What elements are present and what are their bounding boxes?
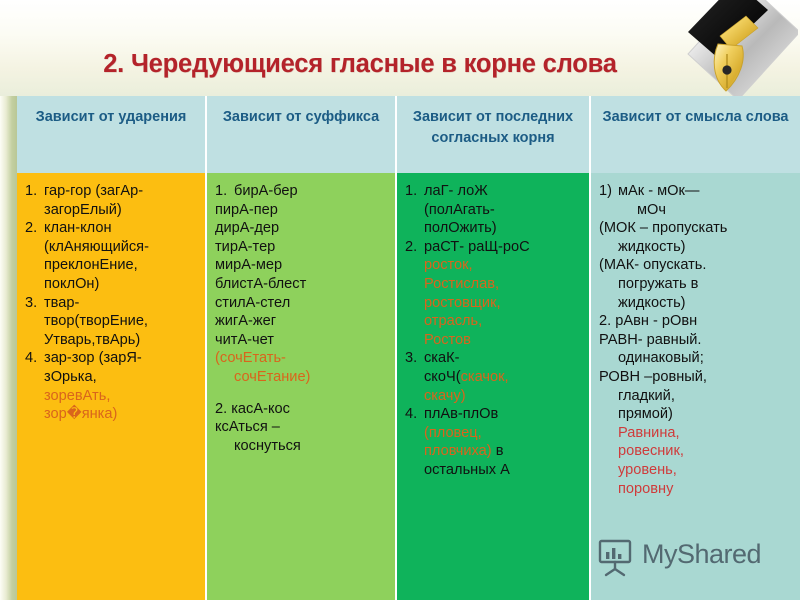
list-item-text: мАк - мОк—мОч [618, 182, 794, 219]
text-line: поровну [599, 480, 794, 499]
list-item-number: 1) [599, 182, 618, 219]
list-item-number: 1. [405, 182, 424, 238]
column-header-suffix: Зависит от суффикса [207, 96, 397, 173]
text-line: скачу) [424, 387, 583, 406]
text-line: 2. рАвн - рОвн [599, 312, 794, 331]
text-line: сочЕтание) [215, 368, 389, 387]
text-line: загорЕлый) [44, 201, 199, 220]
text-line: мОч [618, 201, 794, 220]
title-band [0, 0, 800, 96]
text-line: пловчиха) в [424, 442, 583, 461]
text-line: ровесник, [599, 442, 794, 461]
text-line: блистА-блест [215, 275, 389, 294]
text-line: Равнина, [599, 424, 794, 443]
list-item: 3.твар-твор(творЕние,Утварь,твАрь) [25, 294, 199, 350]
text-line: отрасль, [424, 312, 583, 331]
column-body-consonants: 1.лаГ- лоЖ(полАгать-полОжить)2.раСТ- раЩ… [397, 173, 591, 600]
text-line: ростовщик, [424, 294, 583, 313]
list-item: 2.раСТ- раЩ-роСросток,Ростислав,ростовщи… [405, 238, 583, 350]
list-item-number: 1. [25, 182, 44, 219]
list-item-text: раСТ- раЩ-роСросток,Ростислав,ростовщик,… [424, 238, 583, 350]
list-item-number: 4. [405, 405, 424, 479]
text-line: уровень, [599, 461, 794, 480]
table-column-consonants: Зависит от последних согласных корня 1.л… [397, 96, 591, 600]
text-line: пирА-пер [215, 201, 389, 220]
text-line: ксАться – [215, 418, 389, 437]
text-line: РОВН –ровный, [599, 368, 794, 387]
text-line: зар-зор (зарЯ- [44, 349, 199, 368]
list-item: 1)мАк - мОк—мОч [599, 182, 794, 219]
text-line: клан-клон [44, 219, 199, 238]
list-item-text: плАв-плОв(пловец,пловчиха) востальных А [424, 405, 583, 479]
list-item: 3.скаК-скоЧ(скачок,скачу) [405, 349, 583, 405]
text-line: (полАгать- [424, 201, 583, 220]
page-title: 2. Чередующиеся гласные в корне слова [0, 50, 720, 79]
list-item-text: скаК-скоЧ(скачок,скачу) [424, 349, 583, 405]
left-margin-strip [0, 96, 17, 600]
text-line: зор�янка) [44, 405, 199, 424]
table-column-meaning: Зависит от смысла слова 1)мАк - мОк—мОч(… [591, 96, 800, 600]
text-line: стилА-стел [215, 294, 389, 313]
text-line: (МОК – пропускать [599, 219, 794, 238]
text-line: бирА-бер [234, 182, 389, 201]
table-column-stress: Зависит от ударения 1.гар-гор (загАр-заг… [17, 96, 207, 600]
list-item-text: зар-зор (зарЯ-зОрька,зоревАть,зор�янка) [44, 349, 199, 423]
text-line: жидкость) [599, 294, 794, 313]
table-column-suffix: Зависит от суффикса 1.бирА-берпирА-перди… [207, 96, 397, 600]
list-item-text: бирА-бер [234, 182, 389, 201]
text-line [215, 387, 389, 400]
text-line: скоЧ(скачок, [424, 368, 583, 387]
text-line: дирА-дер [215, 219, 389, 238]
column-body-suffix: 1.бирА-берпирА-пердирА-дертирА-термирА-м… [207, 173, 397, 600]
slide-canvas: 2. Чередующиеся гласные в корне слова [0, 0, 800, 600]
list-item: 1.бирА-бер [215, 182, 389, 201]
text-line: скаК- [424, 349, 583, 368]
text-line: (МАК- опускать. [599, 256, 794, 275]
list-item-number: 3. [25, 294, 44, 350]
text-line: гладкий, [599, 387, 794, 406]
text-line: зОрька, [44, 368, 199, 387]
column-header-meaning: Зависит от смысла слова [591, 96, 800, 173]
text-line: прямой) [599, 405, 794, 424]
text-line: жидкость) [599, 238, 794, 257]
text-line: полОжить) [424, 219, 583, 238]
list-item-text: клан-клон(клАняющийся-преклонЕние,поклОн… [44, 219, 199, 293]
text-line: преклонЕние, [44, 256, 199, 275]
text-line: поклОн) [44, 275, 199, 294]
text-line: одинаковый; [599, 349, 794, 368]
column-header-consonants: Зависит от последних согласных корня [397, 96, 591, 173]
list-item-number: 1. [215, 182, 234, 201]
column-body-meaning: 1)мАк - мОк—мОч(МОК – пропускатьжидкость… [591, 173, 800, 600]
text-line: 2. касА-кос [215, 400, 389, 419]
text-line: (сочЕтать- [215, 349, 389, 368]
column-header-stress: Зависит от ударения [17, 96, 207, 173]
list-item-text: гар-гор (загАр-загорЕлый) [44, 182, 199, 219]
list-item-number: 3. [405, 349, 424, 405]
text-line: мАк - мОк— [618, 182, 794, 201]
text-line: остальных А [424, 461, 583, 480]
text-line: гар-гор (загАр- [44, 182, 199, 201]
text-line: раСТ- раЩ-роС [424, 238, 583, 257]
text-line: погружать в [599, 275, 794, 294]
list-item: 4.плАв-плОв(пловец,пловчиха) востальных … [405, 405, 583, 479]
text-line: Ростов [424, 331, 583, 350]
alternating-vowels-table: Зависит от ударения 1.гар-гор (загАр-заг… [17, 96, 800, 600]
text-line: Ростислав, [424, 275, 583, 294]
list-item: 2.клан-клон(клАняющийся-преклонЕние,покл… [25, 219, 199, 293]
column-body-stress: 1.гар-гор (загАр-загорЕлый)2.клан-клон(к… [17, 173, 207, 600]
text-line: (пловец, [424, 424, 583, 443]
text-line: твар- [44, 294, 199, 313]
text-line: лаГ- лоЖ [424, 182, 583, 201]
list-item-number: 2. [405, 238, 424, 350]
text-line: твор(творЕние, [44, 312, 199, 331]
list-item: 1.гар-гор (загАр-загорЕлый) [25, 182, 199, 219]
text-line: читА-чет [215, 331, 389, 350]
text-line: мирА-мер [215, 256, 389, 275]
text-line: коснуться [215, 437, 389, 456]
list-item-number: 2. [25, 219, 44, 293]
text-line: (клАняющийся- [44, 238, 199, 257]
text-line: росток, [424, 256, 583, 275]
list-item-text: твар-твор(творЕние,Утварь,твАрь) [44, 294, 199, 350]
text-line: тирА-тер [215, 238, 389, 257]
list-item-number: 4. [25, 349, 44, 423]
text-line: жигА-жег [215, 312, 389, 331]
list-item-text: лаГ- лоЖ(полАгать-полОжить) [424, 182, 583, 238]
list-item: 1.лаГ- лоЖ(полАгать-полОжить) [405, 182, 583, 238]
text-line: РАВН- равный. [599, 331, 794, 350]
text-line: Утварь,твАрь) [44, 331, 199, 350]
list-item: 4.зар-зор (зарЯ-зОрька,зоревАть,зор�янка… [25, 349, 199, 423]
text-line: зоревАть, [44, 387, 199, 406]
text-line: плАв-плОв [424, 405, 583, 424]
